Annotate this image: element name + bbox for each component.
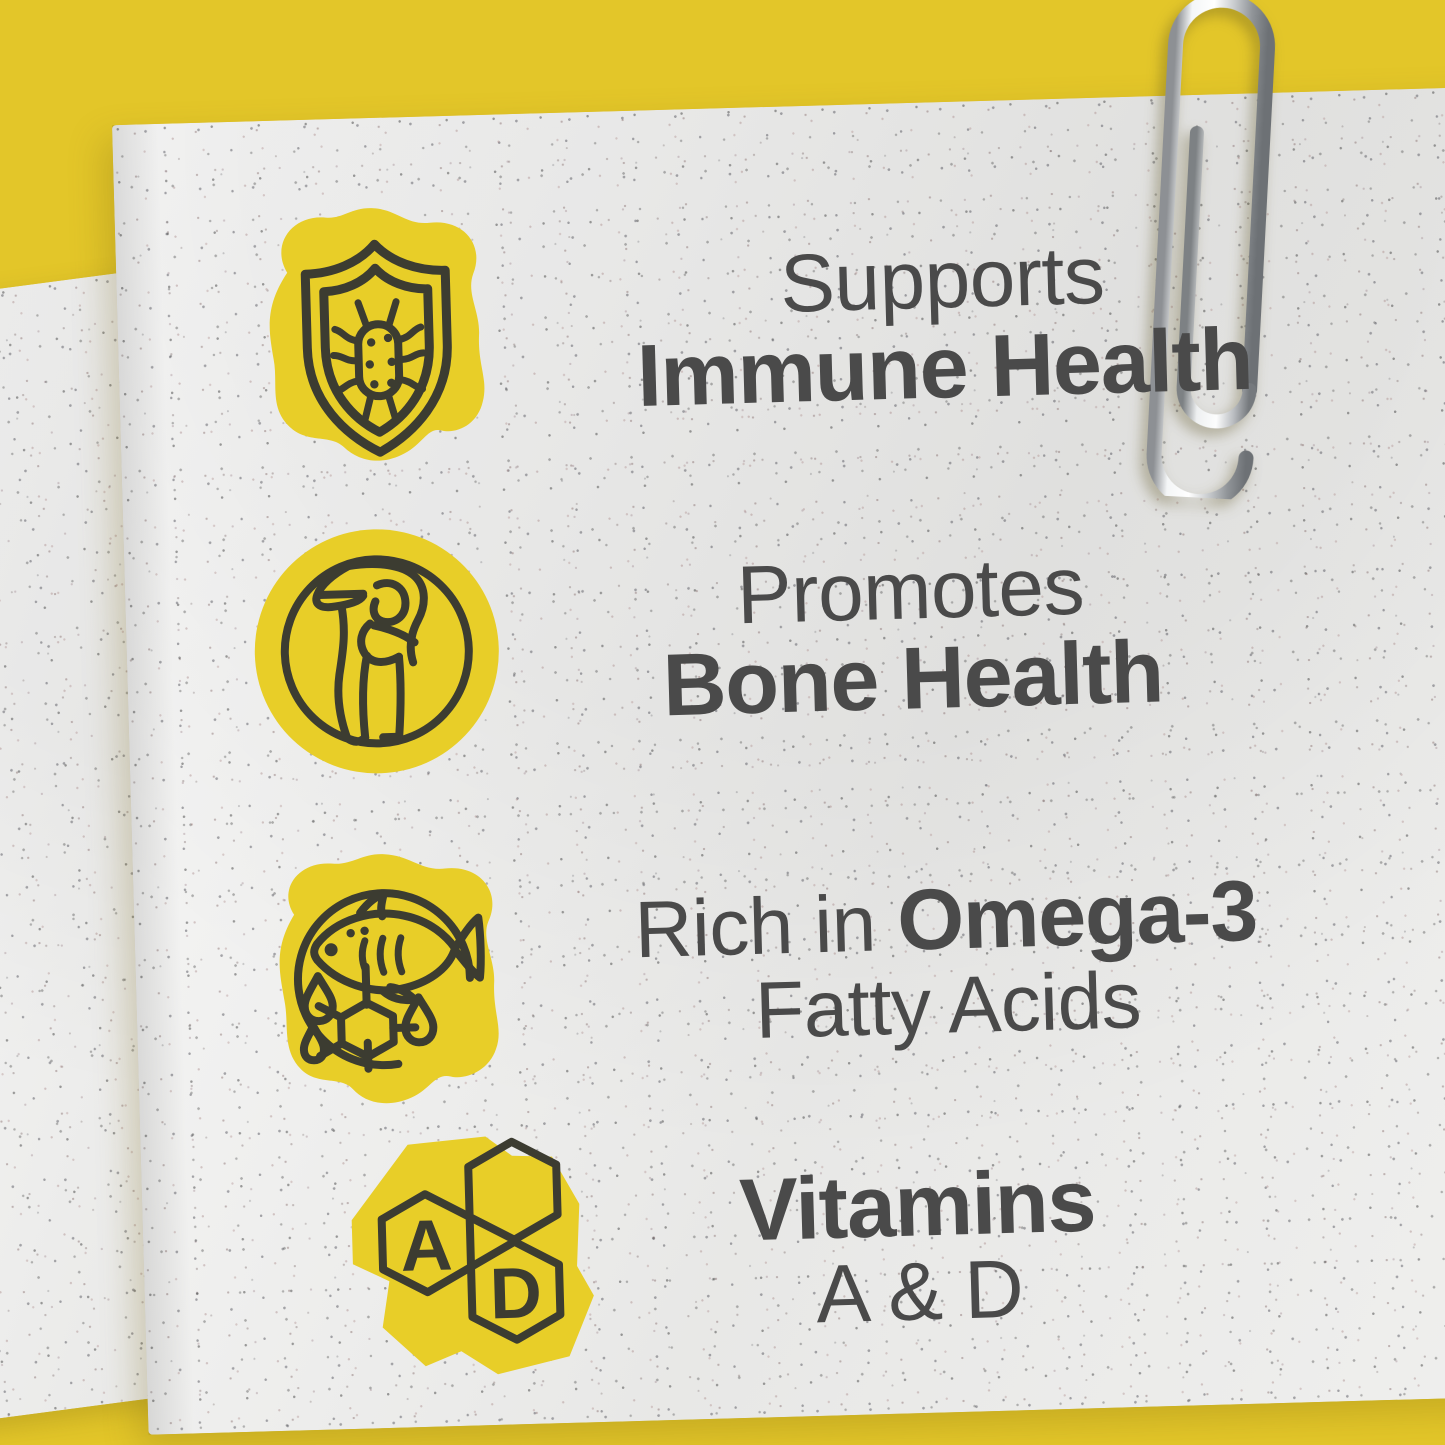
knee-joint-icon [243, 518, 510, 785]
infographic-canvas: Supports Immune Health [0, 0, 1445, 1445]
benefit-text-vitamin: Vitamins A & D [738, 1156, 1098, 1339]
hex-letter-a: A [399, 1205, 453, 1286]
knee-joint-icon-wrap [243, 518, 510, 785]
hex-letter-d: D [489, 1253, 543, 1334]
benefit-text-bone: Promotes Bone Health [659, 543, 1164, 730]
benefits-list: Supports Immune Health [132, 93, 1438, 1428]
benefit-row-vitamin: A D Vitamins A & D [315, 1112, 1100, 1396]
benefit-row-immune: Supports Immune Health [239, 172, 1255, 490]
benefit-line1-omega-bold: Omega-3 [896, 863, 1258, 969]
hexagons-a-d-icon: A D [315, 1125, 604, 1395]
benefit-text-omega: Rich in Omega-3 Fatty Acids [633, 868, 1260, 1055]
hexagons-a-d-icon-wrap: A D [315, 1125, 604, 1395]
shield-with-bug-icon [239, 193, 515, 490]
benefit-line1-vitamin: Vitamins [738, 1156, 1096, 1256]
benefit-row-omega: Rich in Omega-3 Fatty Acids [252, 822, 1261, 1112]
fish-omega-icon [252, 842, 529, 1111]
benefit-line2-vitamin: A & D [741, 1246, 1099, 1340]
benefit-row-bone: Promotes Bone Health [243, 499, 1165, 784]
benefit-line1-omega: Rich in Omega-3 [633, 868, 1258, 973]
fish-omega-icon-wrap [252, 842, 529, 1111]
benefit-line1-omega-light: Rich in [633, 878, 898, 974]
benefit-line2-immune: Immune Health [636, 314, 1253, 421]
shield-with-bug-icon-wrap [239, 193, 515, 490]
benefit-text-immune: Supports Immune Health [634, 230, 1254, 420]
benefit-line2-bone: Bone Health [662, 626, 1165, 730]
